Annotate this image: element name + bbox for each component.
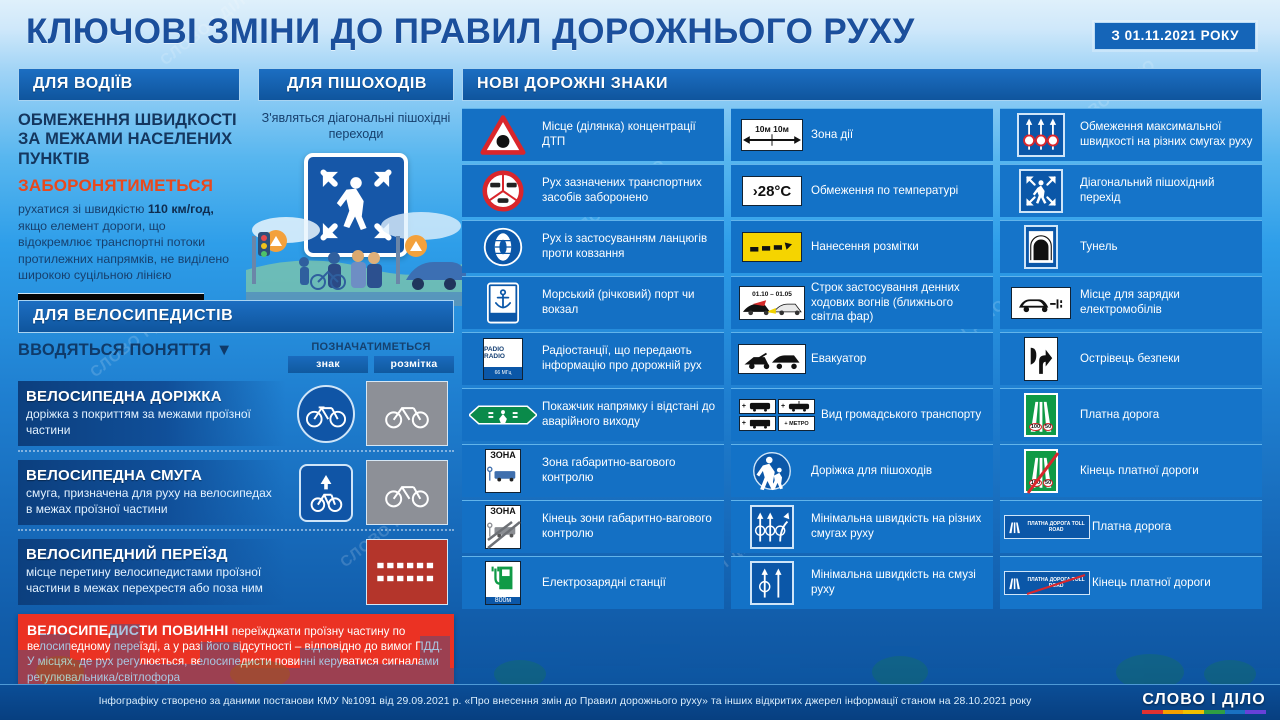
sign-label: Вид громадського транспорту [819, 408, 981, 423]
marking-legend: ПОЗНАЧАТИМЕТЬСЯ знак розмітка [288, 341, 454, 373]
bicycle-marking-icon [366, 381, 448, 446]
cyclist-concept-desc: доріжка з покриттям за межами проїзної ч… [26, 407, 278, 438]
sign-row[interactable]: 10м 10м Зона дії [731, 108, 993, 161]
sea-river-port-sign-icon [466, 281, 540, 325]
sign-label: Радіостанції, що передають інформацію пр… [540, 344, 718, 373]
pedestrian-path-sign-icon [735, 449, 809, 493]
radio-station-sign-icon: PADIO RADIO 66 МГц [466, 337, 540, 381]
sign-label: Рух зазначених транспортних засобів забо… [540, 176, 718, 205]
sign-row[interactable]: 100 50 Платна дорога [1000, 388, 1262, 441]
temperature-limit-sign-icon: ›28°C [735, 169, 809, 213]
cyclists-subheader: ВВОДЯТЬСЯ ПОНЯТТЯ ▼ ПОЗНАЧАТИМЕТЬСЯ знак… [18, 341, 454, 373]
sign-label: Платна дорога [1090, 520, 1171, 535]
pedestrians-caption: З'являться діагональні пішохідні переход… [258, 110, 454, 143]
sign-row[interactable]: Нанесення розмітки [731, 220, 993, 273]
sign-row[interactable]: + + + + МЕТРО [731, 388, 993, 441]
sign-row[interactable]: 100 50 Кінець платної дороги [1000, 444, 1262, 497]
sign-row[interactable]: ПЛАТНА ДОРОГА TOLL ROAD Платна дорога [1000, 500, 1262, 553]
effective-date-badge: З 01.11.2021 РОКУ [1094, 22, 1256, 50]
brand-logo-bars [1142, 710, 1266, 714]
metro-text: + МЕТРО [778, 416, 815, 431]
sign-label: Кінець платної дороги [1078, 464, 1199, 479]
tow-truck-sign-icon [735, 337, 809, 381]
drivers-body-part1: рухатися зі швидкістю [18, 202, 148, 216]
sign-row[interactable]: Мінімальна швидкість на різних смугах ру… [731, 500, 993, 553]
daytime-lights-period-sign-icon: 01.10 – 01.05 [735, 281, 809, 325]
sign-label: Доріжка для пішоходів [809, 464, 932, 479]
toll-road-plate-sign-icon: ПЛАТНА ДОРОГА TOLL ROAD [1004, 505, 1090, 549]
cyclist-concept-name: ВЕЛОСИПЕДНА СМУГА [26, 467, 278, 484]
emergency-exit-direction-sign-icon [466, 393, 540, 437]
pedestrians-section-title: ДЛЯ ПІШОХОДІВ [258, 68, 454, 101]
sign-row[interactable]: Острівець безпеки [1000, 332, 1262, 385]
sign-row[interactable]: 01.10 – 01.05 Строк застосування д [731, 276, 993, 329]
toll-road-sign-icon: 100 50 [1004, 393, 1078, 437]
sign-row[interactable]: PADIO RADIO 66 МГц Радіостанції, що пере… [462, 332, 724, 385]
sign-row[interactable]: ЗОНА Кінець зони габа [462, 500, 724, 553]
drivers-section-title: ДЛЯ ВОДІЇВ [18, 68, 240, 101]
minimum-speed-lanes-sign-icon [735, 505, 809, 549]
cyclist-concept-name: ВЕЛОСИПЕДНИЙ ПЕРЕЇЗД [26, 546, 278, 563]
safety-island-sign-icon [1004, 337, 1078, 381]
street-illustration [246, 196, 466, 306]
cyclist-sign-cell [286, 460, 366, 525]
radio-sign-text: PADIO RADIO [484, 346, 522, 360]
sign-label: Морський (річковий) порт чи вокзал [540, 288, 718, 317]
snow-chains-sign-icon [466, 225, 540, 269]
sign-label: Зона дії [809, 128, 853, 143]
radio-sign-freq: 66 МГц [484, 367, 522, 379]
signs-column-1: Місце (ділянка) концентрації ДТП Рух заз… [462, 108, 724, 612]
drivers-section: ДЛЯ ВОДІЇВ ОБМЕЖЕННЯ ШВИДКОСТІ ЗА МЕЖАМИ… [18, 68, 240, 320]
public-transport-type-sign-icon: + + + + МЕТРО [735, 393, 819, 437]
sign-row[interactable]: Покажчик напрямку і відстані до аварійно… [462, 388, 724, 441]
sign-label: Нанесення розмітки [809, 240, 919, 255]
arrow-up-bicycle-icon [299, 464, 353, 522]
drivers-body-part2: якщо елемент дороги, що відокремлює тран… [18, 219, 229, 283]
vehicles-prohibited-sign-icon [466, 169, 540, 213]
sign-row[interactable]: ›28°C Обмеження по температурі [731, 164, 993, 217]
sign-row[interactable]: Доріжка для пішоходів [731, 444, 993, 497]
zone-sign-text: ЗОНА [490, 450, 516, 461]
signs-column-2: 10м 10м Зона дії ›28°C [731, 108, 993, 612]
legend-col-sign: знак [288, 356, 368, 373]
accident-concentration-sign-icon [466, 113, 540, 157]
sign-row[interactable]: Рух із застосуванням ланцюгів проти ковз… [462, 220, 724, 273]
signs-section-title: НОВІ ДОРОЖНІ ЗНАКИ [462, 68, 1262, 101]
legend-col-marking: розмітка [374, 356, 454, 373]
temperature-text: ›28°C [742, 176, 802, 206]
sign-label: Обмеження максимальної швидкості на різн… [1078, 120, 1256, 149]
brand-logo: СЛОВО І ДІЛО [1142, 691, 1266, 714]
weight-control-zone-sign-icon: ЗОНА [466, 449, 540, 493]
infographic-page: СЛОВО І ДІЛО СЛОВО І ДІЛО СЛОВО І ДІЛО С… [0, 0, 1280, 720]
tunnel-sign-icon [1004, 225, 1078, 269]
zone-of-action-sign-icon: 10м 10м [735, 113, 809, 157]
new-road-signs-section: НОВІ ДОРОЖНІ ЗНАКИ Місце (ділянка) конце… [462, 68, 1262, 612]
cyclist-concept-desc: смуга, призначена для руху на велосипеда… [26, 486, 278, 517]
lights-period-text: 01.10 – 01.05 [752, 291, 792, 298]
bicycle-icon [297, 385, 355, 443]
drivers-highlight: ЗАБОРОНЯТИМЕТЬСЯ [18, 176, 240, 196]
sign-label: Кінець зони габаритно-вагового контролю [540, 512, 718, 541]
toll-road-plate-text: ПЛАТНА ДОРОГА TOLL ROAD [1022, 521, 1087, 533]
sign-row[interactable]: ЗОНА Зона габаритно-вагового контролю [462, 444, 724, 497]
diagonal-crossing-sign-icon [1004, 169, 1078, 213]
brand-logo-text: СЛОВО І ДІЛО [1142, 691, 1266, 709]
sign-label: Тунель [1078, 240, 1118, 255]
sign-label: Діагональний пішохідний перехід [1078, 176, 1256, 205]
zone-action-text: 10м 10м [755, 124, 789, 134]
bicycle-marking-icon [366, 460, 448, 525]
signs-column-3: Обмеження максимальної швидкості на різн… [1000, 108, 1262, 612]
road-marking-work-sign-icon [735, 225, 809, 269]
sign-row[interactable]: Обмеження максимальної швидкості на різн… [1000, 108, 1262, 161]
toll-road-end-sign-icon: 100 50 [1004, 449, 1078, 493]
sign-label: Платна дорога [1078, 408, 1159, 423]
footer: Інфографіку створено за даними постанови… [0, 684, 1280, 720]
sign-row[interactable]: Морський (річковий) порт чи вокзал [462, 276, 724, 329]
sign-label: Мінімальна швидкість на різних смугах ру… [809, 512, 987, 541]
sign-label: Строк застосування денних ходових вогнів… [809, 281, 987, 325]
cyclist-concept-row: ВЕЛОСИПЕДНА ДОРІЖКА доріжка з покриттям … [18, 381, 454, 446]
cyclist-concept-row: ВЕЛОСИПЕДНА СМУГА смуга, призначена для … [18, 460, 454, 525]
footer-source-text: Інфографіку створено за даними постанови… [0, 696, 1130, 707]
weight-control-zone-end-sign-icon: ЗОНА [466, 505, 540, 549]
cyclists-subtitle: ВВОДЯТЬСЯ ПОНЯТТЯ ▼ [18, 341, 233, 360]
max-speed-lanes-sign-icon [1004, 113, 1078, 157]
sign-row[interactable]: Тунель [1000, 220, 1262, 273]
sign-label: Покажчик напрямку і відстані до аварійно… [540, 400, 718, 429]
sign-label: Рух із застосуванням ланцюгів проти ковз… [540, 232, 718, 261]
sign-row[interactable]: Діагональний пішохідний перехід [1000, 164, 1262, 217]
drivers-heading: ОБМЕЖЕННЯ ШВИДКОСТІ ЗА МЕЖАМИ НАСЕЛЕНИХ … [18, 111, 240, 169]
sign-row[interactable]: Місце (ділянка) концентрації ДТП [462, 108, 724, 161]
cyclist-concept-name: ВЕЛОСИПЕДНА ДОРІЖКА [26, 388, 278, 405]
sign-label: Місце для зарядки електромобілів [1078, 288, 1256, 317]
skyline-decoration [0, 564, 1280, 684]
cyclists-section-title: ДЛЯ ВЕЛОСИПЕДИСТІВ [18, 300, 454, 333]
divider [18, 450, 454, 452]
cyclist-sign-cell [286, 381, 366, 446]
ev-charging-place-sign-icon [1004, 281, 1078, 325]
sign-row[interactable]: Рух зазначених транспортних засобів забо… [462, 164, 724, 217]
drivers-body-speed: 110 км/год, [148, 202, 214, 216]
divider [18, 529, 454, 531]
sign-label: Місце (ділянка) концентрації ДТП [540, 120, 718, 149]
sign-row[interactable]: Місце для зарядки електромобілів [1000, 276, 1262, 329]
sign-row[interactable]: Евакуатор [731, 332, 993, 385]
sign-label: Острівець безпеки [1078, 352, 1180, 367]
marking-legend-label: ПОЗНАЧАТИМЕТЬСЯ [288, 341, 454, 353]
sign-label: Евакуатор [809, 352, 866, 367]
sign-label: Обмеження по температурі [809, 184, 958, 199]
sign-label: Зона габаритно-вагового контролю [540, 456, 718, 485]
drivers-body: рухатися зі швидкістю 110 км/год, якщо е… [18, 201, 240, 284]
page-title: КЛЮЧОВІ ЗМІНИ ДО ПРАВИЛ ДОРОЖНЬОГО РУХУ [26, 12, 915, 52]
